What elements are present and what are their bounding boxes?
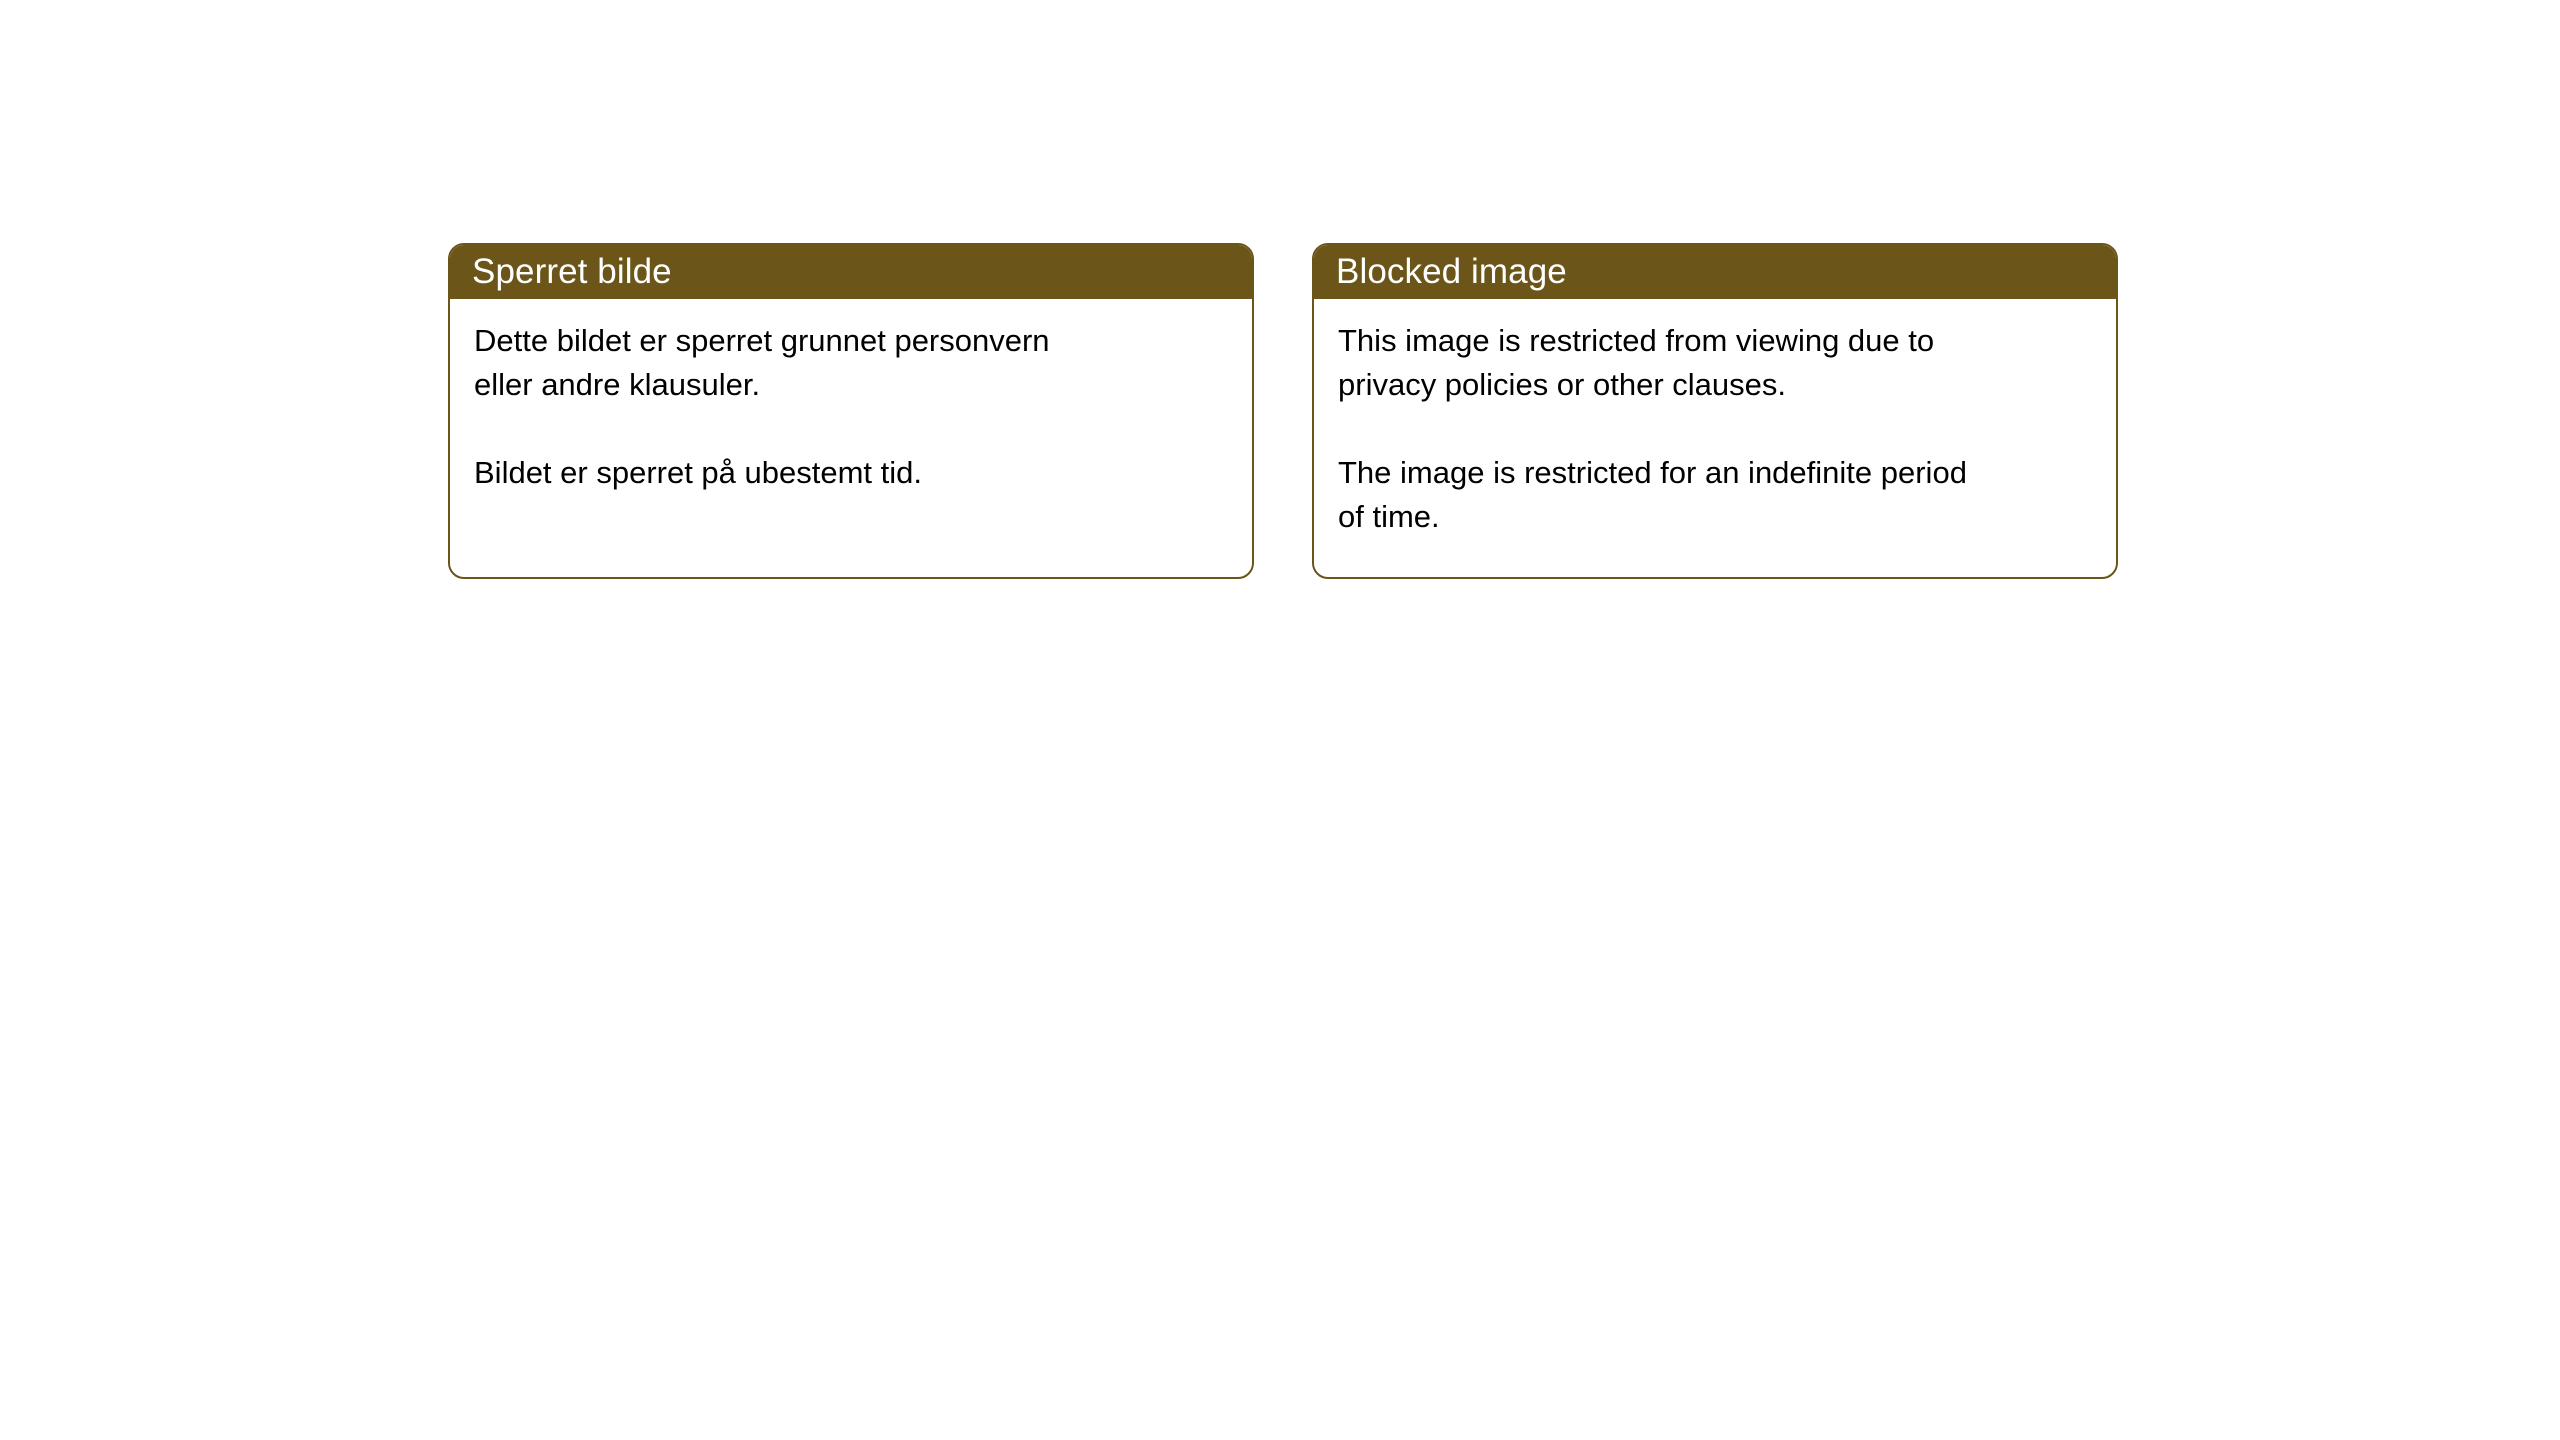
page-canvas: Sperret bilde Dette bildet er sperret gr… — [0, 0, 2560, 1440]
notice-paragraph-secondary-english: The image is restricted for an indefinit… — [1338, 451, 2090, 539]
card-body-english: This image is restricted from viewing du… — [1314, 299, 2116, 539]
card-body-norwegian: Dette bildet er sperret grunnet personve… — [450, 299, 1252, 495]
card-title-english: Blocked image — [1336, 252, 1567, 292]
paragraph-spacer-norwegian — [474, 407, 1226, 451]
paragraph-spacer-english — [1338, 407, 2090, 451]
card-header-english: Blocked image — [1314, 245, 2116, 299]
card-header-norwegian: Sperret bilde — [450, 245, 1252, 299]
blocked-image-notice-norwegian: Sperret bilde Dette bildet er sperret gr… — [448, 243, 1254, 579]
card-title-norwegian: Sperret bilde — [472, 252, 672, 292]
blocked-image-notice-english: Blocked image This image is restricted f… — [1312, 243, 2118, 579]
notice-paragraph-primary-english: This image is restricted from viewing du… — [1338, 319, 2090, 407]
notice-paragraph-secondary-norwegian: Bildet er sperret på ubestemt tid. — [474, 451, 1226, 495]
notice-paragraph-primary-norwegian: Dette bildet er sperret grunnet personve… — [474, 319, 1226, 407]
